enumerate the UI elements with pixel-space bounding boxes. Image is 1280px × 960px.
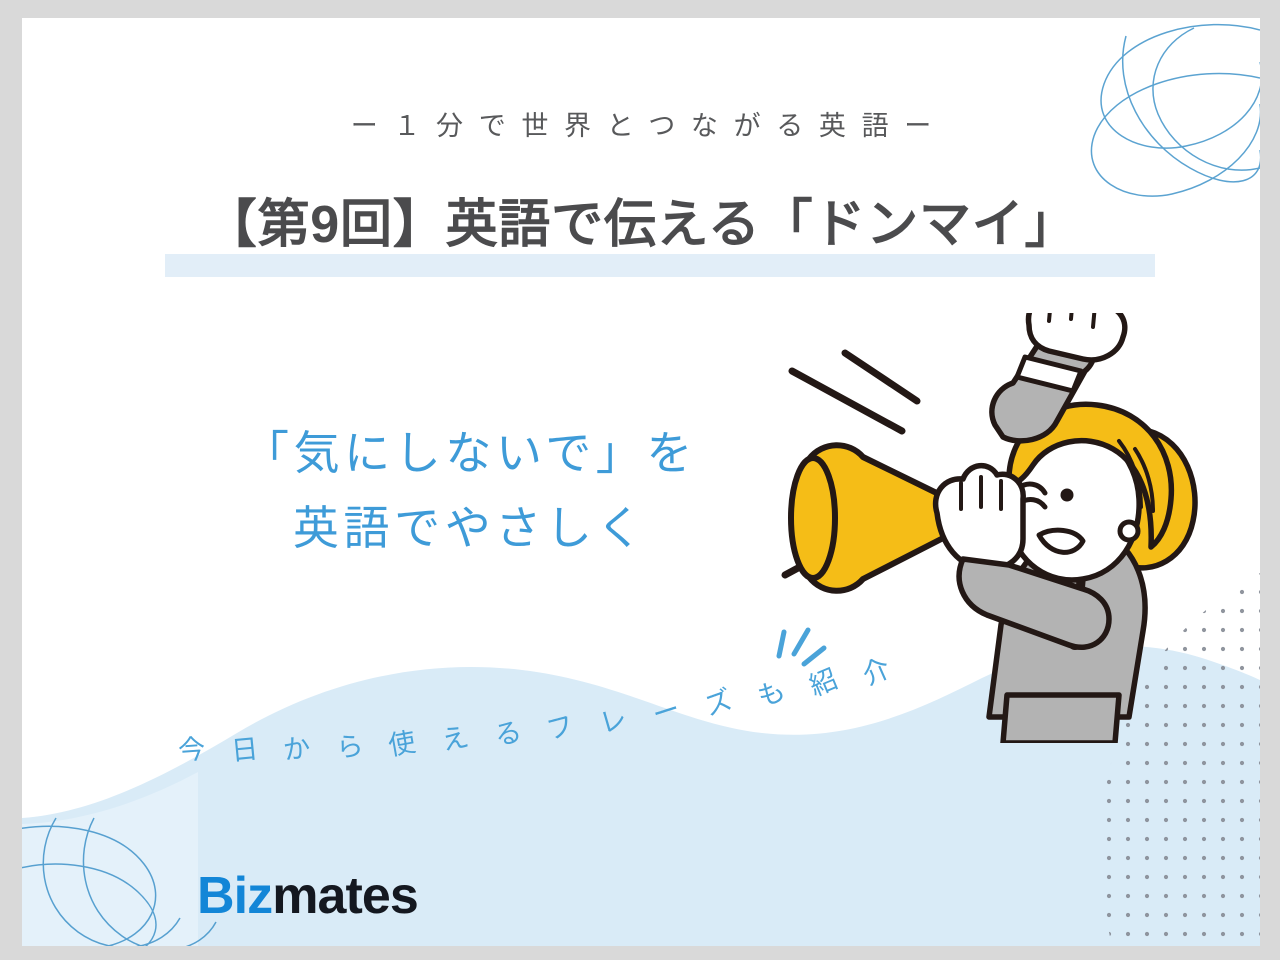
poster-stage: ー１分で世界とつながる英語ー 【第9回】英語で伝える「ドンマイ」 「気にしないで… — [0, 0, 1280, 960]
tagline-char: ズ — [698, 678, 736, 724]
page-title: 【第9回】英語で伝える「ドンマイ」 — [22, 196, 1260, 256]
logo-mates: mates — [272, 867, 418, 925]
skirt — [1003, 695, 1119, 743]
tagline-char: か — [281, 726, 313, 768]
megaphone-mouth — [791, 458, 835, 578]
tagline-char: フ — [542, 703, 578, 748]
title-highlight-bar — [165, 254, 1155, 277]
lead-copy: 「気にしないで」を 英語でやさしく — [140, 416, 800, 565]
tagline-char: ら — [333, 723, 366, 766]
tagline-char: え — [437, 715, 471, 759]
lead-line-2: 英語でやさしく — [140, 491, 800, 566]
tagline-char: レ — [594, 696, 631, 741]
tagline-char: 使 — [385, 720, 418, 763]
tagline-char: 日 — [229, 727, 260, 768]
squiggle-bottom-left — [22, 818, 216, 946]
page-kicker: ー１分で世界とつながる英語ー — [22, 104, 1260, 143]
lead-line-1: 「気にしないで」を — [243, 427, 697, 479]
tagline-char: る — [490, 710, 525, 754]
logo-biz: Biz — [197, 867, 272, 925]
illustration-woman-with-megaphone — [757, 313, 1217, 743]
page-title-text: 【第9回】英語で伝える「ドンマイ」 — [205, 196, 1078, 256]
tagline-char: ー — [646, 687, 684, 732]
logo-backdrop-panel — [22, 772, 198, 946]
tagline-char: 今 — [177, 727, 207, 768]
eye-right — [1061, 489, 1074, 502]
poster-card: ー１分で世界とつながる英語ー 【第9回】英語で伝える「ドンマイ」 「気にしないで… — [22, 18, 1260, 946]
ear — [1120, 522, 1138, 540]
bizmates-logo[interactable]: Bizmates — [197, 870, 418, 922]
